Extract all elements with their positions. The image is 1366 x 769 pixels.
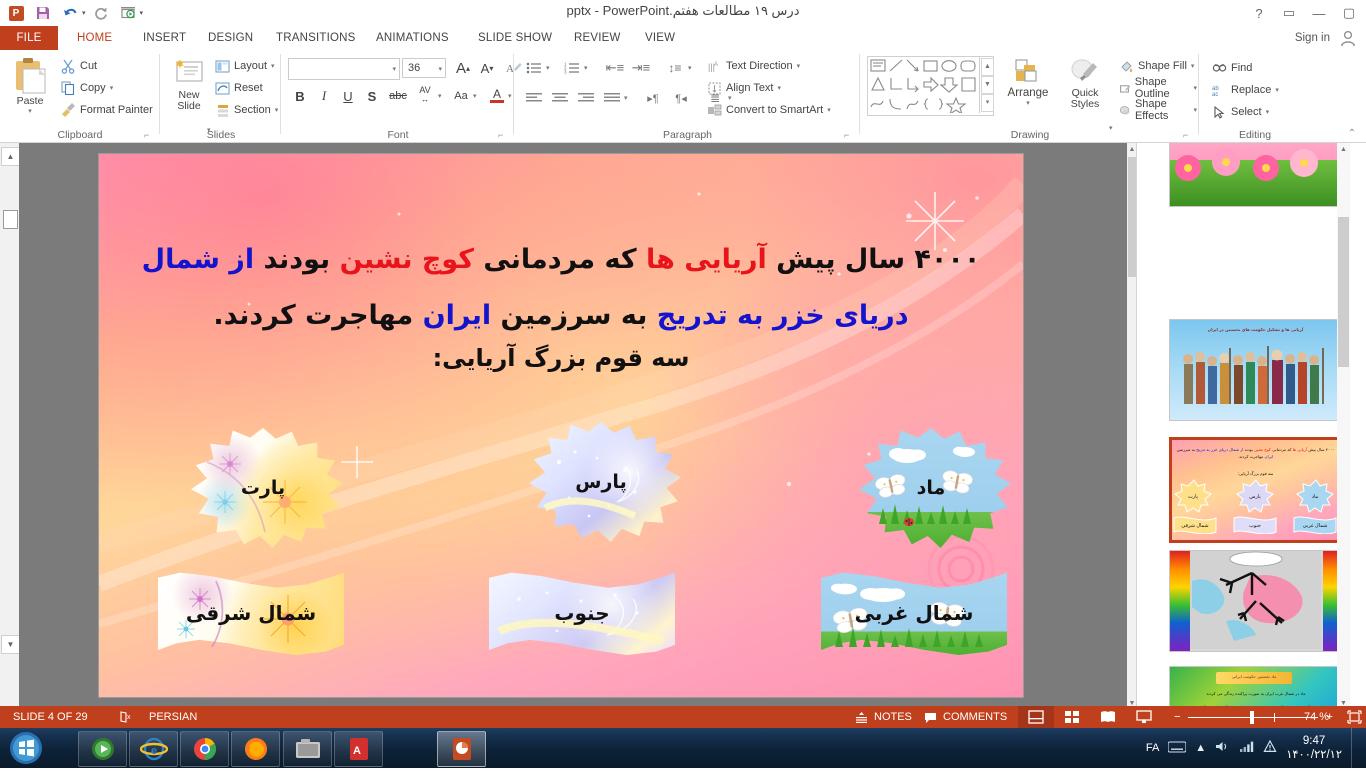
section-label: Section	[234, 104, 271, 116]
ltr-icon[interactable]: ▸¶	[641, 88, 665, 108]
select-label: Select	[1231, 106, 1262, 118]
decrease-indent-icon[interactable]: ⇤≡	[603, 58, 627, 78]
slideshow-view-icon[interactable]	[1126, 706, 1162, 728]
tab-slide-show[interactable]: SLIDE SHOW	[467, 26, 563, 50]
line-spacing-icon[interactable]: ↕≡	[663, 58, 687, 78]
tab-file[interactable]: FILE	[0, 26, 58, 50]
tab-view[interactable]: VIEW	[634, 26, 686, 50]
thumbnail-pane-scrollbar[interactable]: ▲ ▼	[1337, 143, 1350, 711]
spellcheck-icon[interactable]: x	[110, 706, 142, 728]
section-dropdown-icon[interactable]: ▾	[275, 106, 279, 114]
normal-view-icon[interactable]	[1018, 706, 1054, 728]
font-color-icon[interactable]: A	[488, 84, 506, 106]
notes-button[interactable]: NOTES	[846, 706, 921, 728]
quick-styles-label-2: Styles	[1071, 99, 1100, 110]
clipboard-group-label: Clipboard	[0, 129, 160, 141]
banner-shape-northwest[interactable]: شمال غربی	[821, 571, 1007, 655]
svg-text:شمال غربی: شمال غربی	[1303, 523, 1328, 529]
svg-text:ماد: ماد	[1312, 494, 1319, 500]
zoom-out-button[interactable]: −	[1166, 711, 1188, 723]
shape-effects-button[interactable]: Shape Effects ▾	[1117, 100, 1199, 120]
star-label-pars: پارس	[521, 422, 681, 542]
window-title: درس ۱۹ مطالعات هفتم.pptx - PowerPoint	[0, 3, 1366, 19]
thumbnail-slide-4[interactable]: ۴۰۰۰ سال پیش آریایی ها که مردمانی کوچ نش…	[1169, 437, 1348, 543]
drawing-dialog-launcher[interactable]: ⌐	[1183, 130, 1193, 140]
copy-dropdown-icon[interactable]: ▾	[110, 84, 114, 92]
banner-label-south: جنوب	[489, 571, 675, 655]
left-scroll-thumb[interactable]	[3, 210, 18, 229]
convert-to-smartart-label: Convert to SmartArt	[726, 104, 823, 116]
run-0: ۴۰۰۰ سال پیش	[767, 244, 981, 275]
shape-effects-dropdown-icon[interactable]: ▾	[1193, 106, 1197, 114]
increase-font-size-icon[interactable]: A▴	[452, 58, 474, 78]
font-size-dropdown-icon[interactable]: ▾	[438, 65, 442, 73]
svg-text:ac: ac	[1212, 92, 1218, 98]
thumbnail-scroll-up-icon[interactable]: ▲	[1337, 143, 1350, 157]
tray-keyboard-icon[interactable]	[1168, 741, 1186, 756]
new-slide-button[interactable]: New Slide	[167, 56, 211, 112]
pdf-reader-icon[interactable]: A	[334, 731, 383, 767]
section-button[interactable]: Section ▾	[213, 100, 280, 120]
font-size-input[interactable]: 36 ▾	[402, 58, 446, 78]
comments-button[interactable]: COMMENTS	[915, 706, 1016, 728]
shape-fill-dropdown-icon[interactable]: ▾	[1191, 62, 1195, 70]
layout-label: Layout	[234, 60, 267, 72]
star-label-parth: پارت	[183, 428, 343, 548]
paste-dropdown-icon[interactable]: ▾	[28, 107, 32, 115]
change-case-icon[interactable]: Aa	[450, 86, 472, 106]
tab-design[interactable]: DESIGN	[197, 26, 264, 50]
editing-group-label: Editing	[1200, 129, 1310, 141]
format-painter-label: Format Painter	[80, 104, 153, 116]
increase-indent-icon[interactable]: ⇥≡	[629, 58, 653, 78]
status-bar: SLIDE 4 OF 29 x PERSIAN NOTES COMMENTS −	[0, 706, 1366, 728]
italic-icon[interactable]: I	[314, 86, 334, 106]
zoom-thumb[interactable]	[1250, 711, 1254, 724]
find-button[interactable]: Find	[1210, 58, 1254, 78]
svg-text:جنوب: جنوب	[1249, 523, 1261, 529]
thumbnail-6-caption: ماد نخستین حکومت ایرانی	[1216, 674, 1292, 680]
bullets-dropdown-icon[interactable]: ▾	[546, 64, 550, 72]
replace-button[interactable]: abac Replace ▾	[1210, 80, 1281, 100]
reset-label: Reset	[234, 82, 263, 94]
svg-text:e: e	[151, 745, 157, 757]
run-1: آریایی ها	[646, 244, 767, 275]
thumbnail-slide-3[interactable]: آریایی ها و تشکیل حکومت های نخستین در ای…	[1169, 319, 1344, 421]
paste-label: Paste	[17, 96, 44, 107]
strikethrough-icon[interactable]: abc	[386, 86, 410, 106]
scroll-down-button[interactable]: ▼	[1, 635, 20, 654]
format-painter-button[interactable]: Format Painter	[58, 100, 155, 120]
ribbon-group-slides: New Slide ▾ Layout ▾ Reset	[161, 50, 281, 142]
star-shape-mad[interactable]: ماد	[851, 428, 1011, 548]
bullets-icon[interactable]	[523, 58, 545, 78]
start-orb[interactable]	[4, 730, 48, 766]
run-8: مهاجرت کردند.	[213, 300, 422, 331]
tab-animations[interactable]: ANIMATIONS	[365, 26, 460, 50]
svg-text:شمال شرقی: شمال شرقی	[1181, 523, 1208, 529]
tray-language[interactable]: FA	[1146, 742, 1159, 754]
tray-network-icon[interactable]	[1239, 740, 1254, 756]
tray-action-center-icon[interactable]	[1263, 740, 1277, 756]
chrome-icon[interactable]	[180, 731, 229, 767]
powerpoint-icon[interactable]	[437, 731, 486, 767]
shape-fill-button[interactable]: Shape Fill ▾	[1117, 56, 1196, 76]
account-icon[interactable]	[1338, 28, 1358, 48]
notes-label: NOTES	[874, 711, 912, 723]
change-case-dropdown-icon[interactable]: ▾	[473, 92, 477, 100]
maximize-icon[interactable]: ▢	[1334, 0, 1364, 26]
media-player-icon[interactable]	[78, 731, 127, 767]
shape-outline-label: Shape Outline	[1135, 76, 1190, 100]
windows-taskbar: e A FA ▲	[0, 728, 1366, 768]
slide-thumbnail-pane[interactable]: آریایی ها و تشکیل حکومت های نخستین در ای…	[1136, 143, 1350, 711]
slide-main-paragraph[interactable]: ۴۰۰۰ سال پیش آریایی ها که مردمانی کوچ نش…	[119, 232, 1003, 344]
slide-counter[interactable]: SLIDE 4 OF 29	[4, 706, 97, 728]
ribbon-display-options-icon[interactable]: ▭	[1274, 0, 1304, 26]
edit-scroll-thumb[interactable]	[1128, 157, 1136, 277]
tray-clock[interactable]: 9:47 ۱۴۰۰/۲۲/۱۲	[1286, 734, 1342, 762]
left-scroll-strip: ▲ ▼	[0, 143, 20, 711]
replace-dropdown-icon[interactable]: ▾	[1275, 86, 1279, 94]
shapes-scroll-down-icon[interactable]: ▼	[981, 76, 994, 94]
ribbon-group-clipboard: Paste ▾ Cut Copy ▾	[0, 50, 160, 142]
shape-fill-label: Shape Fill	[1138, 60, 1187, 72]
show-desktop-button[interactable]	[1351, 728, 1358, 768]
banner-shape-south[interactable]: جنوب	[489, 571, 675, 655]
align-left-icon[interactable]	[523, 88, 545, 108]
clipboard-dialog-launcher[interactable]: ⌐	[144, 130, 154, 140]
run-6: به سرزمین	[491, 300, 657, 331]
text-direction-label: Text Direction	[726, 60, 793, 72]
drawing-group-label: Drawing	[861, 129, 1199, 141]
select-button[interactable]: Select ▾	[1210, 102, 1271, 122]
zoom-level[interactable]: 74 %	[1295, 706, 1338, 728]
title-bar: P ▾	[0, 0, 1366, 26]
run-3: کوچ نشین	[340, 244, 474, 275]
font-color-dropdown-icon[interactable]: ▾	[508, 92, 512, 100]
font-dialog-launcher[interactable]: ⌐	[498, 130, 508, 140]
select-dropdown-icon[interactable]: ▾	[1266, 108, 1270, 116]
align-text-button[interactable]: Align Text ▾	[705, 78, 783, 98]
shapes-more-icon[interactable]: ▾	[981, 94, 994, 112]
run-2: که مردمانی	[474, 244, 646, 275]
help-icon[interactable]: ?	[1244, 0, 1274, 26]
arrange-label: Arrange	[1008, 88, 1049, 99]
justify-icon[interactable]	[601, 88, 623, 108]
underline-icon[interactable]: U	[338, 86, 358, 106]
paragraph-dialog-launcher[interactable]: ⌐	[844, 130, 854, 140]
slide-sorter-icon[interactable]	[1054, 706, 1090, 728]
ribbon-group-paragraph: ▾ 1 2 3 ▾ ⇤≡ ⇥≡ ↕≡ ▾	[515, 50, 860, 142]
align-right-icon[interactable]	[575, 88, 597, 108]
window-controls: ? ▭ — ▢	[1244, 0, 1364, 26]
ribbon: Paste ▾ Cut Copy ▾	[0, 50, 1366, 143]
svg-text:A: A	[714, 62, 718, 68]
numbering-icon[interactable]: 1 2 3	[561, 58, 583, 78]
thumbnail-3-caption: آریایی ها و تشکیل حکومت های نخستین در ای…	[1176, 327, 1335, 333]
font-group-label: Font	[282, 129, 514, 141]
cut-label: Cut	[80, 60, 97, 72]
tray-volume-icon[interactable]	[1215, 740, 1230, 756]
character-spacing-icon[interactable]: AV↔	[413, 84, 437, 106]
cut-button[interactable]: Cut	[58, 56, 99, 76]
svg-text:A: A	[353, 745, 361, 757]
rtl-icon[interactable]: ¶◂	[669, 88, 693, 108]
banner-label-northwest: شمال غربی	[821, 571, 1007, 655]
clock-date: ۱۴۰۰/۲۲/۱۲	[1286, 748, 1342, 762]
justify-dropdown-icon[interactable]: ▾	[624, 94, 628, 102]
reset-button[interactable]: Reset	[213, 78, 265, 98]
star-label-mad: ماد	[851, 428, 1011, 548]
shapes-scroll-up-icon[interactable]: ▲	[981, 58, 994, 76]
paste-button[interactable]: Paste ▾	[6, 56, 54, 115]
thumbnail-scroll-thumb[interactable]	[1338, 217, 1349, 367]
language-indicator[interactable]: PERSIAN	[140, 706, 206, 728]
reading-view-icon[interactable]	[1090, 706, 1126, 728]
folder-icon[interactable]	[283, 731, 332, 767]
convert-to-smartart-button[interactable]: Convert to SmartArt ▾	[705, 100, 833, 120]
clock-time: 9:47	[1286, 734, 1342, 748]
copy-button[interactable]: Copy ▾	[58, 78, 115, 98]
numbering-dropdown-icon[interactable]: ▾	[584, 64, 588, 72]
shape-outline-dropdown-icon[interactable]: ▾	[1193, 84, 1197, 92]
font-name-dropdown-icon[interactable]: ▾	[392, 65, 396, 73]
font-name-input[interactable]: ▾	[288, 58, 400, 80]
new-slide-label-2: Slide	[177, 101, 200, 112]
slide-canvas[interactable]: ۴۰۰۰ سال پیش آریایی ها که مردمانی کوچ نش…	[99, 154, 1023, 697]
find-label: Find	[1231, 62, 1252, 74]
run-4: بودند	[254, 244, 339, 275]
layout-dropdown-icon[interactable]: ▾	[271, 62, 275, 70]
arrange-dropdown-icon[interactable]: ▾	[1026, 99, 1030, 107]
convert-smartart-dropdown-icon[interactable]: ▾	[827, 106, 831, 114]
shape-outline-button[interactable]: Shape Outline ▾	[1117, 78, 1199, 98]
thumbnail-slide-2[interactable]	[1169, 143, 1344, 207]
thumbnail-slide-5[interactable]: 5 ★	[1169, 550, 1344, 652]
svg-text:پارت: پارت	[1188, 494, 1199, 500]
shapes-gallery[interactable]: ▲ ▼ ▾	[867, 56, 994, 116]
arrange-button[interactable]: Arrange ▾	[1001, 58, 1055, 107]
thumbnail-slide-6[interactable]: ماد نخستین حکومت ایرانی ماد در شمال غرب …	[1169, 666, 1344, 711]
font-size-value: 36	[408, 62, 420, 74]
fit-to-window-icon[interactable]	[1336, 706, 1366, 728]
tab-review[interactable]: REVIEW	[563, 26, 632, 50]
internet-explorer-icon[interactable]: e	[129, 731, 178, 767]
align-center-icon[interactable]	[549, 88, 571, 108]
tab-home[interactable]: HOME	[66, 26, 123, 52]
banner-shape-northeast[interactable]: شمال شرقی	[158, 571, 344, 655]
slide-subtitle[interactable]: سه قوم بزرگ آریایی:	[119, 344, 1003, 372]
tab-transitions[interactable]: TRANSITIONS	[265, 26, 367, 50]
powerpoint-window: P ▾	[0, 0, 1366, 768]
ribbon-group-editing: Find abac Replace ▾ Select ▾ Editing	[1200, 50, 1310, 142]
collapse-ribbon-icon[interactable]: ⌃	[1344, 126, 1360, 140]
ribbon-group-drawing: ▲ ▼ ▾ Arrange ▾	[861, 50, 1199, 142]
star-shape-parth[interactable]: پارت	[183, 428, 343, 548]
copy-label: Copy	[80, 82, 106, 94]
ribbon-tabs: FILE HOME INSERT DESIGN TRANSITIONS ANIM…	[0, 26, 1366, 51]
text-direction-button[interactable]: |||A Text Direction ▾	[705, 56, 802, 76]
tray-show-hidden-icon[interactable]: ▲	[1195, 742, 1206, 754]
system-tray: FA ▲ 9:47 ۱۴۰۰/۲۲/۱۲	[1146, 728, 1366, 768]
banner-label-northeast: شمال شرقی	[158, 571, 344, 655]
quick-styles-button[interactable]: Quick Styles	[1059, 58, 1111, 110]
svg-text:3: 3	[564, 69, 567, 74]
decrease-font-size-icon[interactable]: A▾	[476, 58, 498, 78]
slides-group-label: Slides	[161, 129, 281, 141]
svg-text:پارس: پارس	[1249, 494, 1261, 500]
line-spacing-dropdown-icon[interactable]: ▾	[688, 64, 692, 72]
scroll-up-button[interactable]: ▲	[1, 147, 20, 166]
align-text-dropdown-icon[interactable]: ▾	[778, 84, 782, 92]
bold-icon[interactable]: B	[290, 86, 310, 106]
run-7: ایران	[423, 300, 492, 331]
sign-in-button[interactable]: Sign in	[1295, 26, 1330, 50]
text-shadow-icon[interactable]: S	[362, 86, 382, 106]
ribbon-group-font: ▾ 36 ▾ A▴ A▾ A B I U S abc AV↔ ▾	[282, 50, 514, 142]
shape-effects-label: Shape Effects	[1135, 98, 1190, 122]
character-spacing-dropdown-icon[interactable]: ▾	[438, 92, 442, 100]
minimize-icon[interactable]: —	[1304, 0, 1334, 26]
paragraph-group-label: Paragraph	[515, 129, 860, 141]
slide-edit-area: ۴۰۰۰ سال پیش آریایی ها که مردمانی کوچ نش…	[19, 143, 1136, 711]
svg-text:x: x	[127, 714, 131, 721]
text-direction-dropdown-icon[interactable]: ▾	[797, 62, 801, 70]
align-text-label: Align Text	[726, 82, 774, 94]
star-shape-pars[interactable]: پارس	[521, 422, 681, 542]
firefox-icon[interactable]	[231, 731, 280, 767]
comments-label: COMMENTS	[943, 711, 1007, 723]
tab-insert[interactable]: INSERT	[132, 26, 197, 50]
layout-button[interactable]: Layout ▾	[213, 56, 277, 76]
replace-label: Replace	[1231, 84, 1271, 96]
